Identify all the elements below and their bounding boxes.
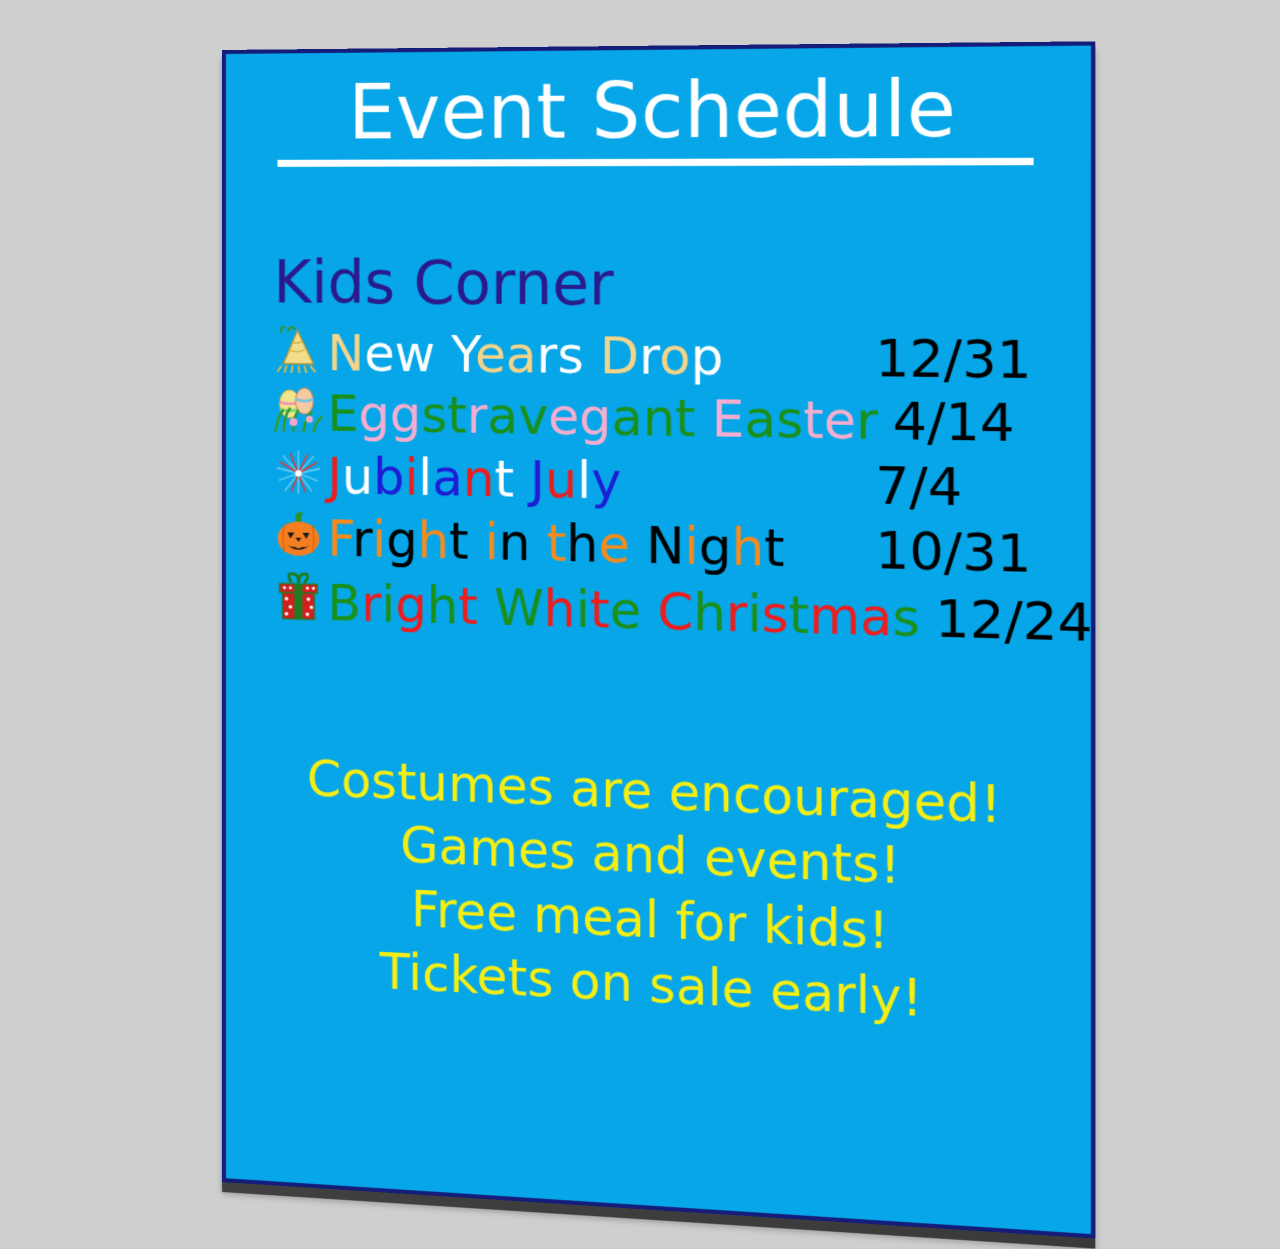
event-name-letter: h	[731, 518, 764, 578]
event-name-letter: a	[487, 387, 518, 445]
event-name-letter: p	[691, 327, 724, 386]
event-name: Jubilant July	[327, 451, 860, 511]
event-name-letter: e	[610, 581, 641, 640]
event-name-letter: t	[449, 512, 469, 570]
event-name: New Years Drop	[327, 329, 860, 385]
event-name-letter: e	[548, 388, 579, 447]
event-name-letter: t	[803, 391, 823, 451]
event-name: Eggstravegant Easter	[327, 389, 877, 447]
event-name-letter: B	[327, 574, 361, 632]
event-name-letter: w	[395, 325, 436, 383]
scene: Event Schedule Kids Corner New Years Dro…	[0, 0, 1280, 1248]
event-name-letter: b	[373, 448, 404, 506]
event-name-letter: m	[809, 586, 860, 647]
event-name-letter: e	[824, 391, 856, 451]
event-name-letter: F	[327, 510, 352, 568]
event-name-letter: u	[545, 451, 577, 510]
event-date: 10/31	[860, 524, 1058, 581]
event-name-letter: i	[576, 580, 590, 639]
title-underline	[278, 157, 1034, 166]
event-name-letter: l	[577, 451, 591, 510]
event-name-letter: y	[591, 452, 621, 511]
event-name-letter: t	[458, 577, 478, 635]
event-date: 7/4	[860, 459, 1058, 515]
event-name-letter: g	[699, 517, 732, 577]
event-name-letter: i	[381, 576, 395, 634]
event-name: Fright in the Night	[327, 514, 860, 576]
gift-box-icon	[270, 570, 328, 624]
event-name-letter: r	[352, 510, 372, 568]
event-name-letter: t	[764, 519, 784, 579]
event-name-letter: D	[600, 327, 639, 386]
event-name-letter: n	[499, 513, 531, 572]
event-name-letter: s	[762, 585, 789, 645]
event-name-letter: C	[657, 582, 693, 642]
event-name-letter: a	[744, 390, 776, 449]
event-name-letter: h	[693, 583, 726, 643]
event-row: Eggstravegant Easter4/14	[270, 379, 1058, 454]
event-name-letter: u	[342, 448, 373, 506]
event-name-letter: h	[544, 580, 576, 639]
event-name-letter: g	[579, 388, 611, 447]
event-name-letter	[469, 513, 485, 571]
event-name-letter: s	[557, 326, 583, 385]
event-name-letter	[478, 578, 494, 636]
event-name-letter: o	[659, 327, 690, 386]
event-name-letter	[435, 325, 451, 383]
sign-content: Event Schedule Kids Corner New Years Dro…	[222, 41, 1095, 1238]
event-name-letter	[514, 450, 530, 508]
event-name-letter: J	[530, 451, 545, 509]
event-name-letter: E	[327, 385, 358, 443]
event-name-letter: g	[359, 385, 390, 443]
event-name-letter: J	[327, 447, 341, 505]
event-name-letter: s	[892, 588, 920, 648]
event-name-letter: i	[684, 517, 698, 576]
event-name-letter	[584, 327, 600, 386]
event-date: 12/24	[920, 592, 1119, 650]
party-hat-icon	[270, 321, 328, 374]
event-name-letter: i	[372, 511, 386, 569]
fireworks-icon	[270, 445, 328, 496]
event-schedule-sign: Event Schedule Kids Corner New Years Dro…	[222, 41, 1095, 1238]
event-name-letter: N	[646, 516, 684, 576]
event-name-letter: g	[395, 576, 426, 635]
event-name-letter: h	[566, 515, 598, 574]
event-name-letter: i	[405, 449, 419, 507]
event-name-letter: r	[639, 327, 659, 386]
event-name-letter: e	[475, 326, 506, 384]
easter-eggs-icon	[270, 383, 328, 434]
event-name-letter: i	[747, 585, 761, 644]
event-name-letter: t	[675, 389, 695, 448]
event-name-letter: N	[327, 325, 364, 383]
event-name-letter: W	[494, 578, 544, 637]
event-name-letter: h	[427, 577, 459, 636]
event-name-letter: a	[611, 388, 642, 447]
event-name-letter: i	[485, 513, 499, 571]
event-name-letter: r	[856, 391, 878, 451]
event-name-letter: e	[364, 325, 394, 383]
event-name-letter: r	[726, 584, 747, 643]
event-name-letter: a	[432, 449, 463, 507]
jack-o-lantern-icon	[270, 508, 328, 560]
event-name-letter	[530, 514, 546, 573]
section-title-kids-corner: Kids Corner	[256, 253, 1058, 317]
event-name-letter: e	[598, 515, 629, 574]
event-list: New Years Drop12/31 Eggstravegant Easter…	[256, 317, 1058, 650]
event-name-letter: g	[390, 386, 421, 444]
event-name-letter	[695, 389, 711, 448]
page-title: Event Schedule	[256, 69, 1058, 153]
event-name-letter: t	[789, 586, 809, 646]
event-name-letter: t	[590, 581, 610, 640]
event-name-letter: g	[386, 511, 417, 569]
event-name-letter: a	[506, 326, 537, 384]
event-name-letter: Y	[451, 326, 475, 384]
footer-notes: Costumes are encouraged!Games and events…	[256, 746, 1058, 1040]
event-name-letter: n	[463, 450, 495, 509]
event-name-letter: v	[518, 387, 548, 446]
event-name-letter: r	[361, 575, 381, 633]
event-name-letter	[630, 516, 646, 575]
event-name-letter: E	[712, 390, 745, 449]
event-name-letter: t	[447, 386, 467, 444]
event-name-letter: a	[860, 587, 892, 647]
event-name-letter: r	[467, 387, 488, 445]
event-row: New Years Drop12/31	[270, 317, 1058, 388]
event-name-letter: t	[494, 450, 514, 508]
event-name: Bright White Christmas	[327, 578, 920, 644]
event-name-letter: s	[776, 390, 803, 450]
event-date: 12/31	[860, 332, 1058, 386]
event-name-letter: h	[418, 512, 450, 570]
event-name-letter: s	[421, 386, 447, 444]
event-name-letter: t	[546, 514, 566, 573]
event-name-letter	[641, 582, 657, 641]
event-name-letter: l	[418, 449, 432, 507]
event-name-letter: r	[537, 326, 558, 384]
event-name-letter: n	[643, 389, 675, 448]
event-date: 4/14	[878, 395, 1076, 450]
